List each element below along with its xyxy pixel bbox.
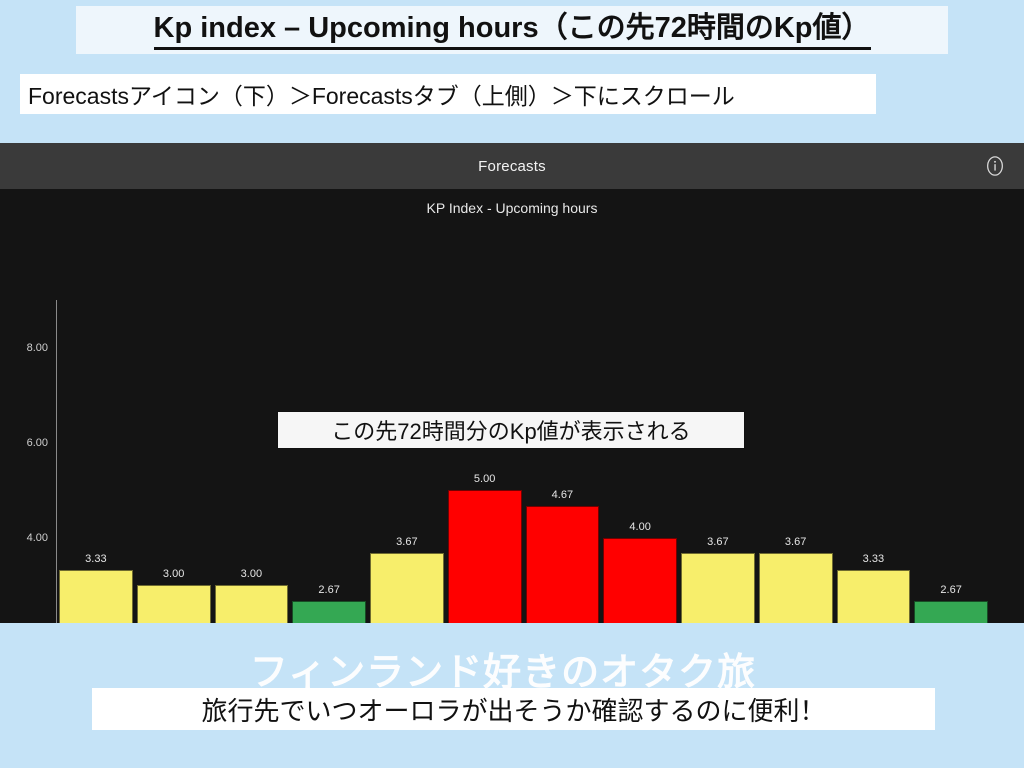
footer-text: 旅行先でいつオーロラが出そうか確認するのに便利！ xyxy=(201,691,825,728)
callout-text: この先72時間分のKp値が表示される xyxy=(331,414,690,446)
bar-slot[interactable]: 4.673:00 xyxy=(524,300,602,623)
bar-slot[interactable]: 4.006:00 xyxy=(601,300,679,623)
bar-slot[interactable]: 2.6718:00 xyxy=(912,300,990,623)
bar-value-label: 3.33 xyxy=(57,553,135,565)
app-header: Forecasts xyxy=(0,143,1024,189)
bar-slot[interactable]: 3.0015:00 xyxy=(213,300,291,623)
bar-value-label: 2.67 xyxy=(912,584,990,596)
chart-bar[interactable] xyxy=(448,490,522,623)
bar-value-label: 4.00 xyxy=(601,521,679,533)
bar-value-label: 3.67 xyxy=(368,536,446,548)
chart-title: KP Index - Upcoming hours xyxy=(0,200,1024,216)
callout-box: この先72時間分のKp値が表示される xyxy=(277,411,745,449)
chart-bar[interactable] xyxy=(370,553,444,623)
bar-slot[interactable]: 3.679:00 xyxy=(679,300,757,623)
bar-value-label: 3.00 xyxy=(135,568,213,580)
y-axis-tick-label: 6.00 xyxy=(27,437,48,449)
footer-box: 旅行先でいつオーロラが出そうか確認するのに便利！ xyxy=(92,688,935,730)
bar-value-label: 2.67 xyxy=(290,584,368,596)
bar-slot[interactable]: 3.0012:00 xyxy=(135,300,213,623)
bar-value-label: 3.67 xyxy=(757,536,835,548)
bar-slot[interactable]: 3.33Now xyxy=(57,300,135,623)
bar-value-label: 3.00 xyxy=(213,568,291,580)
chart-bar[interactable] xyxy=(603,538,677,623)
chart-bar[interactable] xyxy=(681,553,755,623)
y-axis-tick-label: 4.00 xyxy=(27,532,48,544)
bar-series: 3.33Now3.0012:003.0015:002.6718:003.6721… xyxy=(57,300,990,623)
bar-value-label: 4.67 xyxy=(524,489,602,501)
chart-bar[interactable] xyxy=(526,506,600,623)
kp-index-chart: KP Index - Upcoming hours 3.33Now3.0012:… xyxy=(0,189,1024,574)
bar-slot[interactable]: 3.3315:00 xyxy=(835,300,913,623)
chart-bar[interactable] xyxy=(59,570,133,623)
bar-value-label: 3.33 xyxy=(835,553,913,565)
chart-bar[interactable] xyxy=(137,585,211,623)
bar-slot[interactable]: 3.6712:00 xyxy=(757,300,835,623)
slide-title-box: Kp index – Upcoming hours（この先72時間のKp値） xyxy=(76,6,948,54)
chart-bar[interactable] xyxy=(292,601,366,623)
instruction-text: Forecastsアイコン（下）＞Forecastsタブ（上側）＞下にスクロール xyxy=(28,77,735,111)
bar-value-label: 3.67 xyxy=(679,536,757,548)
bar-value-label: 5.00 xyxy=(446,473,524,485)
app-header-title: Forecasts xyxy=(478,158,546,175)
slide: Kp index – Upcoming hours（この先72時間のKp値） F… xyxy=(0,0,1024,768)
page-title: Kp index – Upcoming hours（この先72時間のKp値） xyxy=(154,10,871,50)
chart-bar[interactable] xyxy=(914,601,988,623)
bar-slot[interactable]: 2.6718:00 xyxy=(290,300,368,623)
chart-bar[interactable] xyxy=(215,585,289,623)
bar-slot[interactable]: 3.6721:00 xyxy=(368,300,446,623)
instruction-box: Forecastsアイコン（下）＞Forecastsタブ（上側）＞下にスクロール xyxy=(20,74,876,114)
app-screenshot: Forecasts KP Index - Upcoming hours 3.33… xyxy=(0,143,1024,623)
chart-plot-area: 3.33Now3.0012:003.0015:002.6718:003.6721… xyxy=(57,300,990,623)
chart-bar[interactable] xyxy=(837,570,911,623)
info-circle-icon[interactable] xyxy=(984,155,1006,177)
chart-bar[interactable] xyxy=(759,553,833,623)
bar-slot[interactable]: 5.00Thu 21 xyxy=(446,300,524,623)
y-axis-tick-label: 8.00 xyxy=(27,342,48,354)
